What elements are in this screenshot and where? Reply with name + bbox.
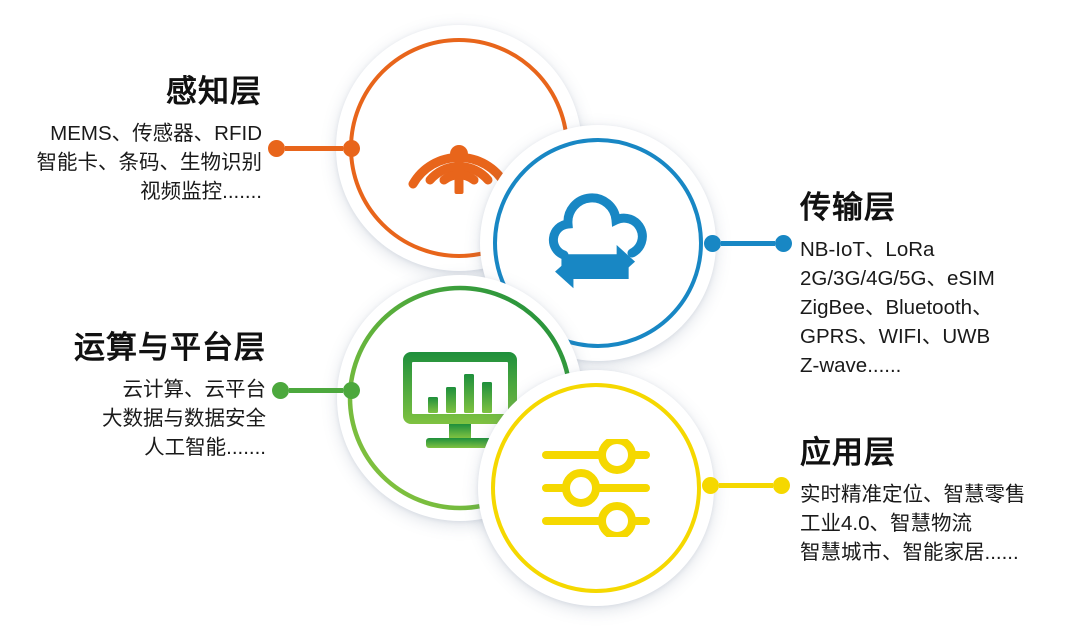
diagram-canvas: 感知层 MEMS、传感器、RFID 智能卡、条码、生物识别 视频监控......… — [0, 0, 1092, 634]
connector-sensing — [268, 139, 360, 157]
connector-line — [285, 146, 343, 151]
detail-line: 实时精准定位、智慧零售 — [800, 480, 1092, 509]
detail-line: 视频监控....... — [0, 177, 262, 206]
connector-line — [721, 241, 775, 246]
connector-dot-outer — [268, 140, 285, 157]
layer-details-sensing: MEMS、传感器、RFID 智能卡、条码、生物识别 视频监控....... — [0, 119, 262, 206]
connector-line — [289, 388, 343, 393]
connector-dot-outer — [272, 382, 289, 399]
connector-compute — [272, 381, 360, 399]
connector-dot-inner — [343, 382, 360, 399]
detail-line: Z-wave...... — [800, 351, 1092, 380]
connector-dot-inner — [704, 235, 721, 252]
node-circle-application[interactable] — [478, 370, 714, 606]
layer-heading-compute: 运算与平台层 — [0, 330, 266, 366]
detail-line: MEMS、传感器、RFID — [0, 119, 262, 148]
detail-line: 2G/3G/4G/5G、eSIM — [800, 264, 1092, 293]
connector-dot-inner — [702, 477, 719, 494]
layer-heading-transport: 传输层 — [800, 190, 1092, 226]
detail-line: NB-IoT、LoRa — [800, 235, 1092, 264]
layer-details-compute: 云计算、云平台 大数据与数据安全 人工智能....... — [0, 375, 266, 462]
connector-line — [719, 483, 773, 488]
detail-line: 智能卡、条码、生物识别 — [0, 148, 262, 177]
layer-heading-application: 应用层 — [800, 435, 1092, 471]
connector-application — [702, 476, 790, 494]
detail-line: 云计算、云平台 — [0, 375, 266, 404]
layer-details-transport: NB-IoT、LoRa 2G/3G/4G/5G、eSIM ZigBee、Blue… — [800, 235, 1092, 381]
detail-line: 大数据与数据安全 — [0, 404, 266, 433]
label-block-sensing: 感知层 MEMS、传感器、RFID 智能卡、条码、生物识别 视频监控......… — [0, 74, 262, 206]
label-block-compute: 运算与平台层 云计算、云平台 大数据与数据安全 人工智能....... — [0, 330, 266, 462]
cloud-transfer-icon — [538, 189, 658, 297]
connector-dot-outer — [773, 477, 790, 494]
connector-transport — [704, 234, 792, 252]
layer-details-application: 实时精准定位、智慧零售 工业4.0、智慧物流 智慧城市、智能家居...... — [800, 480, 1092, 567]
detail-line: GPRS、WIFI、UWB — [800, 322, 1092, 351]
connector-dot-inner — [343, 140, 360, 157]
detail-line: ZigBee、Bluetooth、 — [800, 293, 1092, 322]
connector-dot-outer — [775, 235, 792, 252]
layer-heading-sensing: 感知层 — [0, 74, 262, 110]
sliders-icon — [540, 439, 652, 537]
detail-line: 工业4.0、智慧物流 — [800, 509, 1092, 538]
detail-line: 智慧城市、智能家居...... — [800, 538, 1092, 567]
detail-line: 人工智能....... — [0, 433, 266, 462]
label-block-application: 应用层 实时精准定位、智慧零售 工业4.0、智慧物流 智慧城市、智能家居....… — [800, 435, 1092, 567]
label-block-transport: 传输层 NB-IoT、LoRa 2G/3G/4G/5G、eSIM ZigBee、… — [800, 190, 1092, 380]
